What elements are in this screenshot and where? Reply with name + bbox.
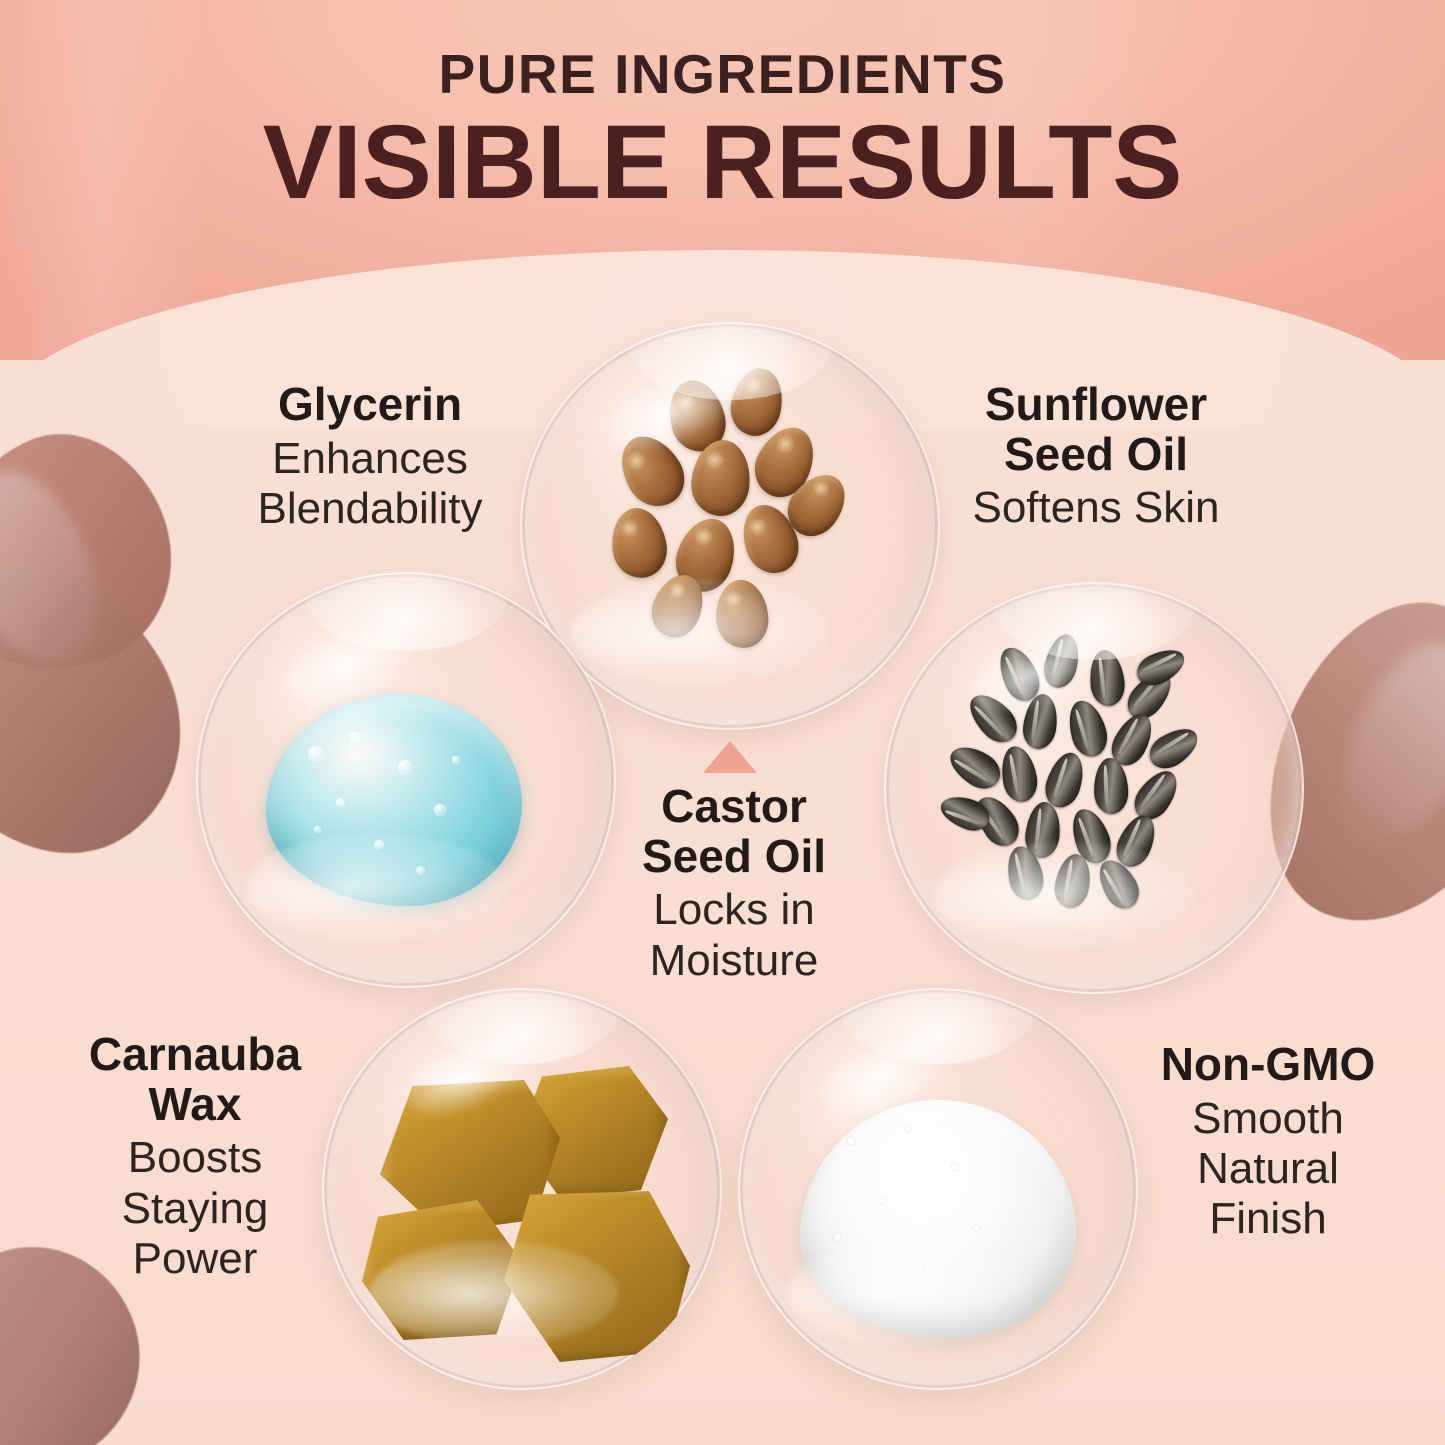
ingredient-name-sunflower: Sunflower Seed Oil [906, 380, 1286, 479]
ingredient-name-carnauba: Carnauba Wax [40, 1030, 350, 1129]
name-line: Sunflower [906, 380, 1286, 430]
glass-sphere-glycerin [196, 572, 616, 988]
ingredient-desc-sunflower: Softens Skin [906, 483, 1286, 533]
sphere-highlight-bottom [246, 834, 506, 942]
sphere-highlight-bottom [786, 1241, 1034, 1346]
ingredient-label-sunflower: Sunflower Seed Oil Softens Skin [906, 380, 1286, 534]
headline-secondary: VISIBLE RESULTS [0, 110, 1445, 215]
name-line: Seed Oil [906, 430, 1286, 480]
ingredient-name-glycerin: Glycerin [180, 380, 560, 430]
desc-line: Enhances [180, 434, 560, 484]
ingredient-desc-glycerin: Enhances Blendability [180, 434, 560, 534]
name-line: Castor [584, 782, 884, 832]
ingredient-label-castor: Castor Seed Oil Locks in Moisture [584, 782, 884, 986]
sphere-highlight-bottom [370, 1241, 618, 1346]
name-line: Wax [40, 1080, 350, 1130]
desc-line: Boosts [40, 1133, 350, 1183]
triangle-pointer-icon [703, 741, 757, 773]
desc-line: Natural [1118, 1144, 1418, 1194]
ingredient-desc-castor: Locks in Moisture [584, 885, 884, 985]
glass-sphere-sunflower [884, 582, 1304, 994]
ingredient-desc-nongmo: Smooth Natural Finish [1118, 1094, 1418, 1244]
desc-line: Power [40, 1234, 350, 1284]
name-line: Seed Oil [584, 832, 884, 882]
headline-primary: PURE INGREDIENTS [0, 46, 1445, 104]
sphere-highlight-bottom [934, 842, 1194, 949]
ingredient-name-nongmo: Non-GMO [1118, 1040, 1418, 1090]
glass-sphere-nongmo [738, 988, 1138, 1390]
ingredient-desc-carnauba: Boosts Staying Power [40, 1133, 350, 1283]
desc-line: Finish [1118, 1194, 1418, 1244]
ingredient-label-carnauba: Carnauba Wax Boosts Staying Power [40, 1030, 350, 1284]
title-block: PURE INGREDIENTS VISIBLE RESULTS [0, 46, 1445, 215]
name-line: Carnauba [40, 1030, 350, 1080]
ingredient-name-castor: Castor Seed Oil [584, 782, 884, 881]
infographic-canvas: PURE INGREDIENTS VISIBLE RESULTS [0, 0, 1445, 1445]
ingredient-label-glycerin: Glycerin Enhances Blendability [180, 380, 560, 534]
glass-sphere-carnauba [322, 988, 722, 1390]
desc-line: Blendability [180, 484, 560, 534]
desc-line: Moisture [584, 936, 884, 986]
desc-line: Smooth [1118, 1094, 1418, 1144]
desc-line: Staying [40, 1184, 350, 1234]
desc-line: Softens Skin [906, 483, 1286, 533]
ingredient-label-nongmo: Non-GMO Smooth Natural Finish [1118, 1040, 1418, 1244]
desc-line: Locks in [584, 885, 884, 935]
